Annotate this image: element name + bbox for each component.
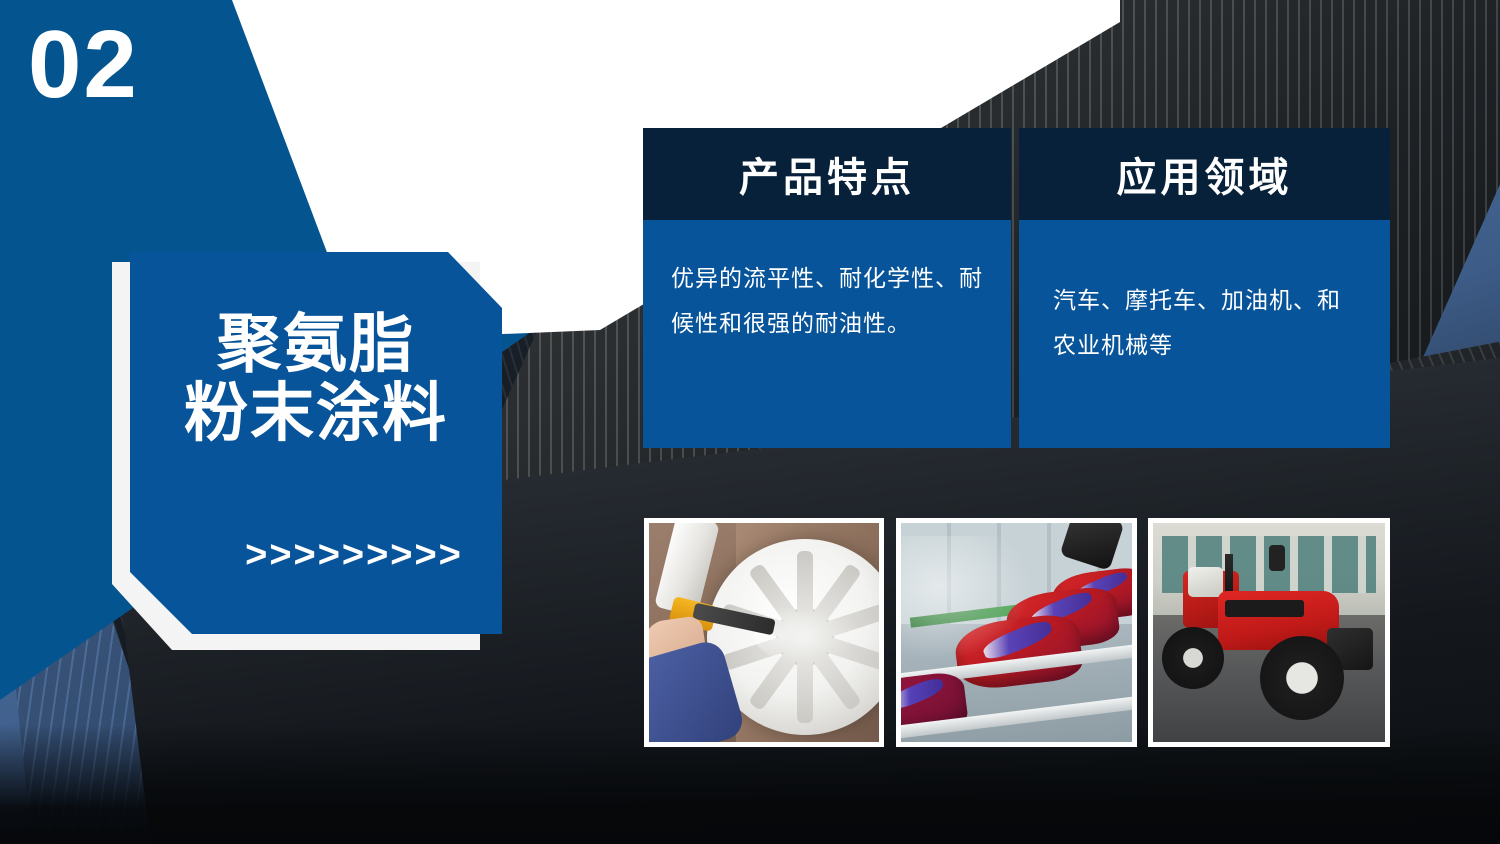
panel-product-features: 产品特点 优异的流平性、耐化学性、耐候性和很强的耐油性。 xyxy=(643,128,1011,448)
panel-body-features: 优异的流平性、耐化学性、耐候性和很强的耐油性。 xyxy=(643,220,1011,448)
photo-agricultural-tractor xyxy=(1148,518,1390,747)
slide-canvas: 02 聚氨脂 粉末涂料 >>>>>>>>> 产品特点 优异的流平性、耐化学性、耐… xyxy=(0,0,1500,844)
tractor-rear-wheel xyxy=(1260,636,1344,720)
panel-heading-features: 产品特点 xyxy=(643,128,1011,220)
photo-fuel-tank-coating-line xyxy=(896,518,1137,747)
tractor-seat xyxy=(1188,567,1223,598)
photo-tanks-content xyxy=(901,523,1132,742)
photo-wheel-content xyxy=(649,523,879,742)
photo-tractor-content xyxy=(1153,523,1385,742)
panel-body-applications: 汽车、摩托车、加油机、和农业机械等 xyxy=(1019,220,1390,448)
title-line-1: 聚氨脂 xyxy=(130,310,502,379)
photo-powder-coating-wheel xyxy=(644,518,884,747)
section-number: 02 xyxy=(28,12,139,118)
panel-heading-applications: 应用领域 xyxy=(1019,128,1390,220)
title-block: 聚氨脂 粉末涂料 >>>>>>>>> xyxy=(130,252,502,634)
arrows-decoration: >>>>>>>>> xyxy=(130,534,502,577)
title-line-2: 粉末涂料 xyxy=(130,379,502,448)
booth-steam xyxy=(901,536,1035,663)
page-title: 聚氨脂 粉末涂料 xyxy=(130,310,502,448)
tractor-mirror xyxy=(1269,545,1285,571)
tractor-hood-stripe xyxy=(1225,600,1304,618)
panel-application-fields: 应用领域 汽车、摩托车、加油机、和农业机械等 xyxy=(1019,128,1390,448)
